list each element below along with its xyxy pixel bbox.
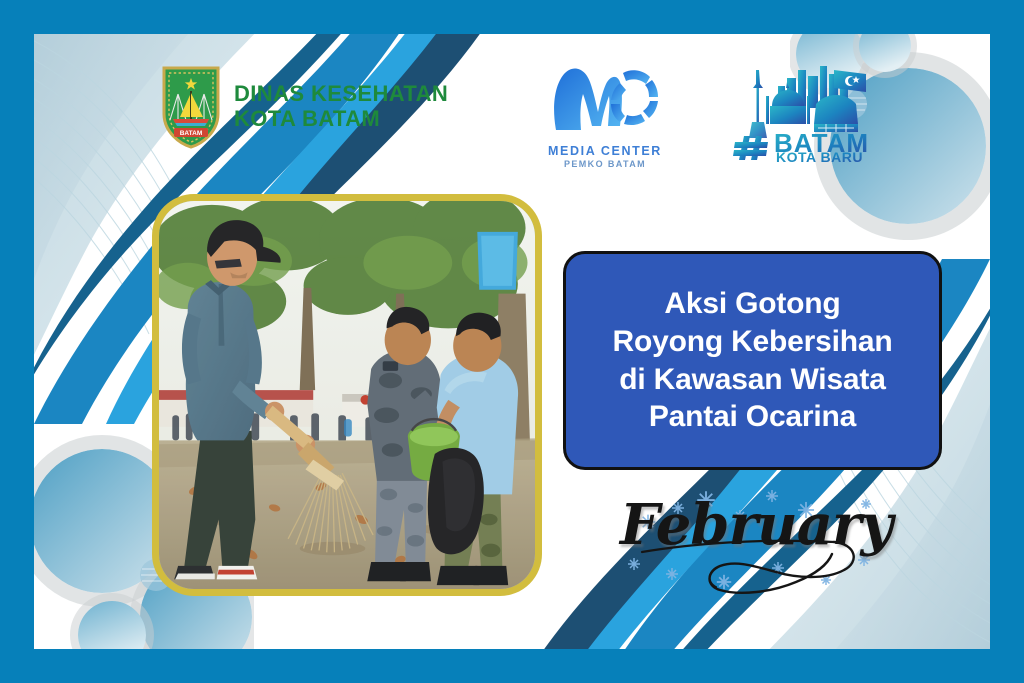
title-line-2: Royong Kebersihan [613, 323, 893, 361]
gotong-royong-cleanup-photo [152, 194, 542, 596]
logo-dinas-kesehatan: BATAM DINAS KESEHATAN KOTA BATAM [160, 64, 448, 150]
logo-media-center: MEDIA CENTER PEMKO BATAM [520, 60, 690, 169]
border-top [0, 0, 1024, 34]
dinkes-line-2: KOTA BATAM [234, 107, 448, 132]
border-right [990, 0, 1024, 683]
batam-kota-baru-icon: BATAM KOTA BARU [730, 62, 880, 162]
month-flourish-icon [620, 486, 890, 606]
title-line-3: di Kawasan Wisata [613, 361, 893, 399]
title-line-1: Aksi Gotong [613, 285, 893, 323]
logo-batam-kota-baru: BATAM KOTA BARU [725, 62, 885, 167]
dinas-kesehatan-label: DINAS KESEHATAN KOTA BATAM [234, 82, 448, 131]
emblem-banner-text: BATAM [180, 130, 203, 137]
photo-illustration [159, 201, 535, 589]
title-text: Aksi Gotong Royong Kebersihan di Kawasan… [599, 285, 907, 436]
batam-city-emblem-icon: BATAM [160, 64, 222, 150]
media-center-monogram-icon [540, 60, 670, 138]
border-bottom [0, 649, 1024, 683]
title-banner: Aksi Gotong Royong Kebersihan di Kawasan… [563, 251, 942, 470]
media-center-subtitle: PEMKO BATAM [520, 159, 690, 169]
border-left [0, 0, 34, 683]
title-line-4: Pantai Ocarina [613, 398, 893, 436]
dinkes-line-1: DINAS KESEHATAN [234, 82, 448, 107]
logo-row: BATAM DINAS KESEHATAN KOTA BATAM [120, 60, 900, 175]
month-label-group: February [620, 486, 890, 606]
media-center-name: MEDIA CENTER [520, 144, 690, 158]
poster-canvas: BATAM DINAS KESEHATAN KOTA BATAM [0, 0, 1024, 683]
batam-subtitle: KOTA BARU [776, 149, 863, 162]
